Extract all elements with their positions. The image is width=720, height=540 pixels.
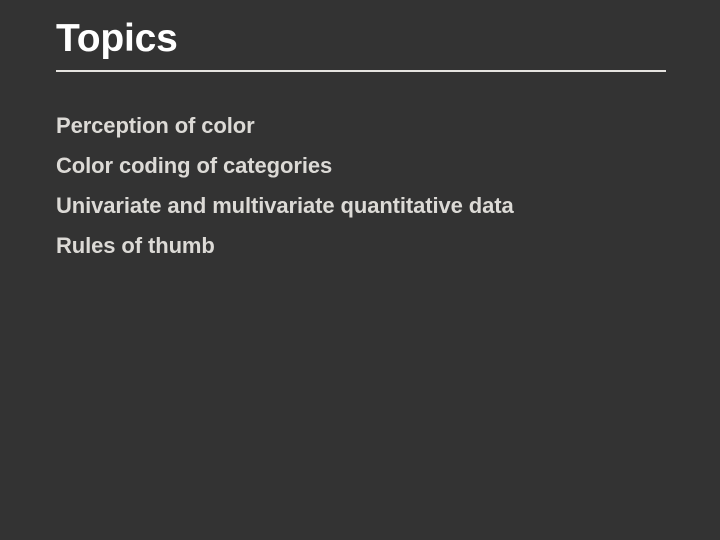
page-title: Topics [56, 16, 178, 62]
list-item: Univariate and multivariate quantitative… [56, 186, 676, 226]
list-item: Rules of thumb [56, 226, 676, 266]
list-item: Perception of color [56, 106, 676, 146]
topics-list: Perception of color Color coding of cate… [56, 106, 676, 266]
title-divider [56, 70, 666, 72]
list-item: Color coding of categories [56, 146, 676, 186]
slide-canvas: Topics Perception of color Color coding … [0, 0, 720, 540]
